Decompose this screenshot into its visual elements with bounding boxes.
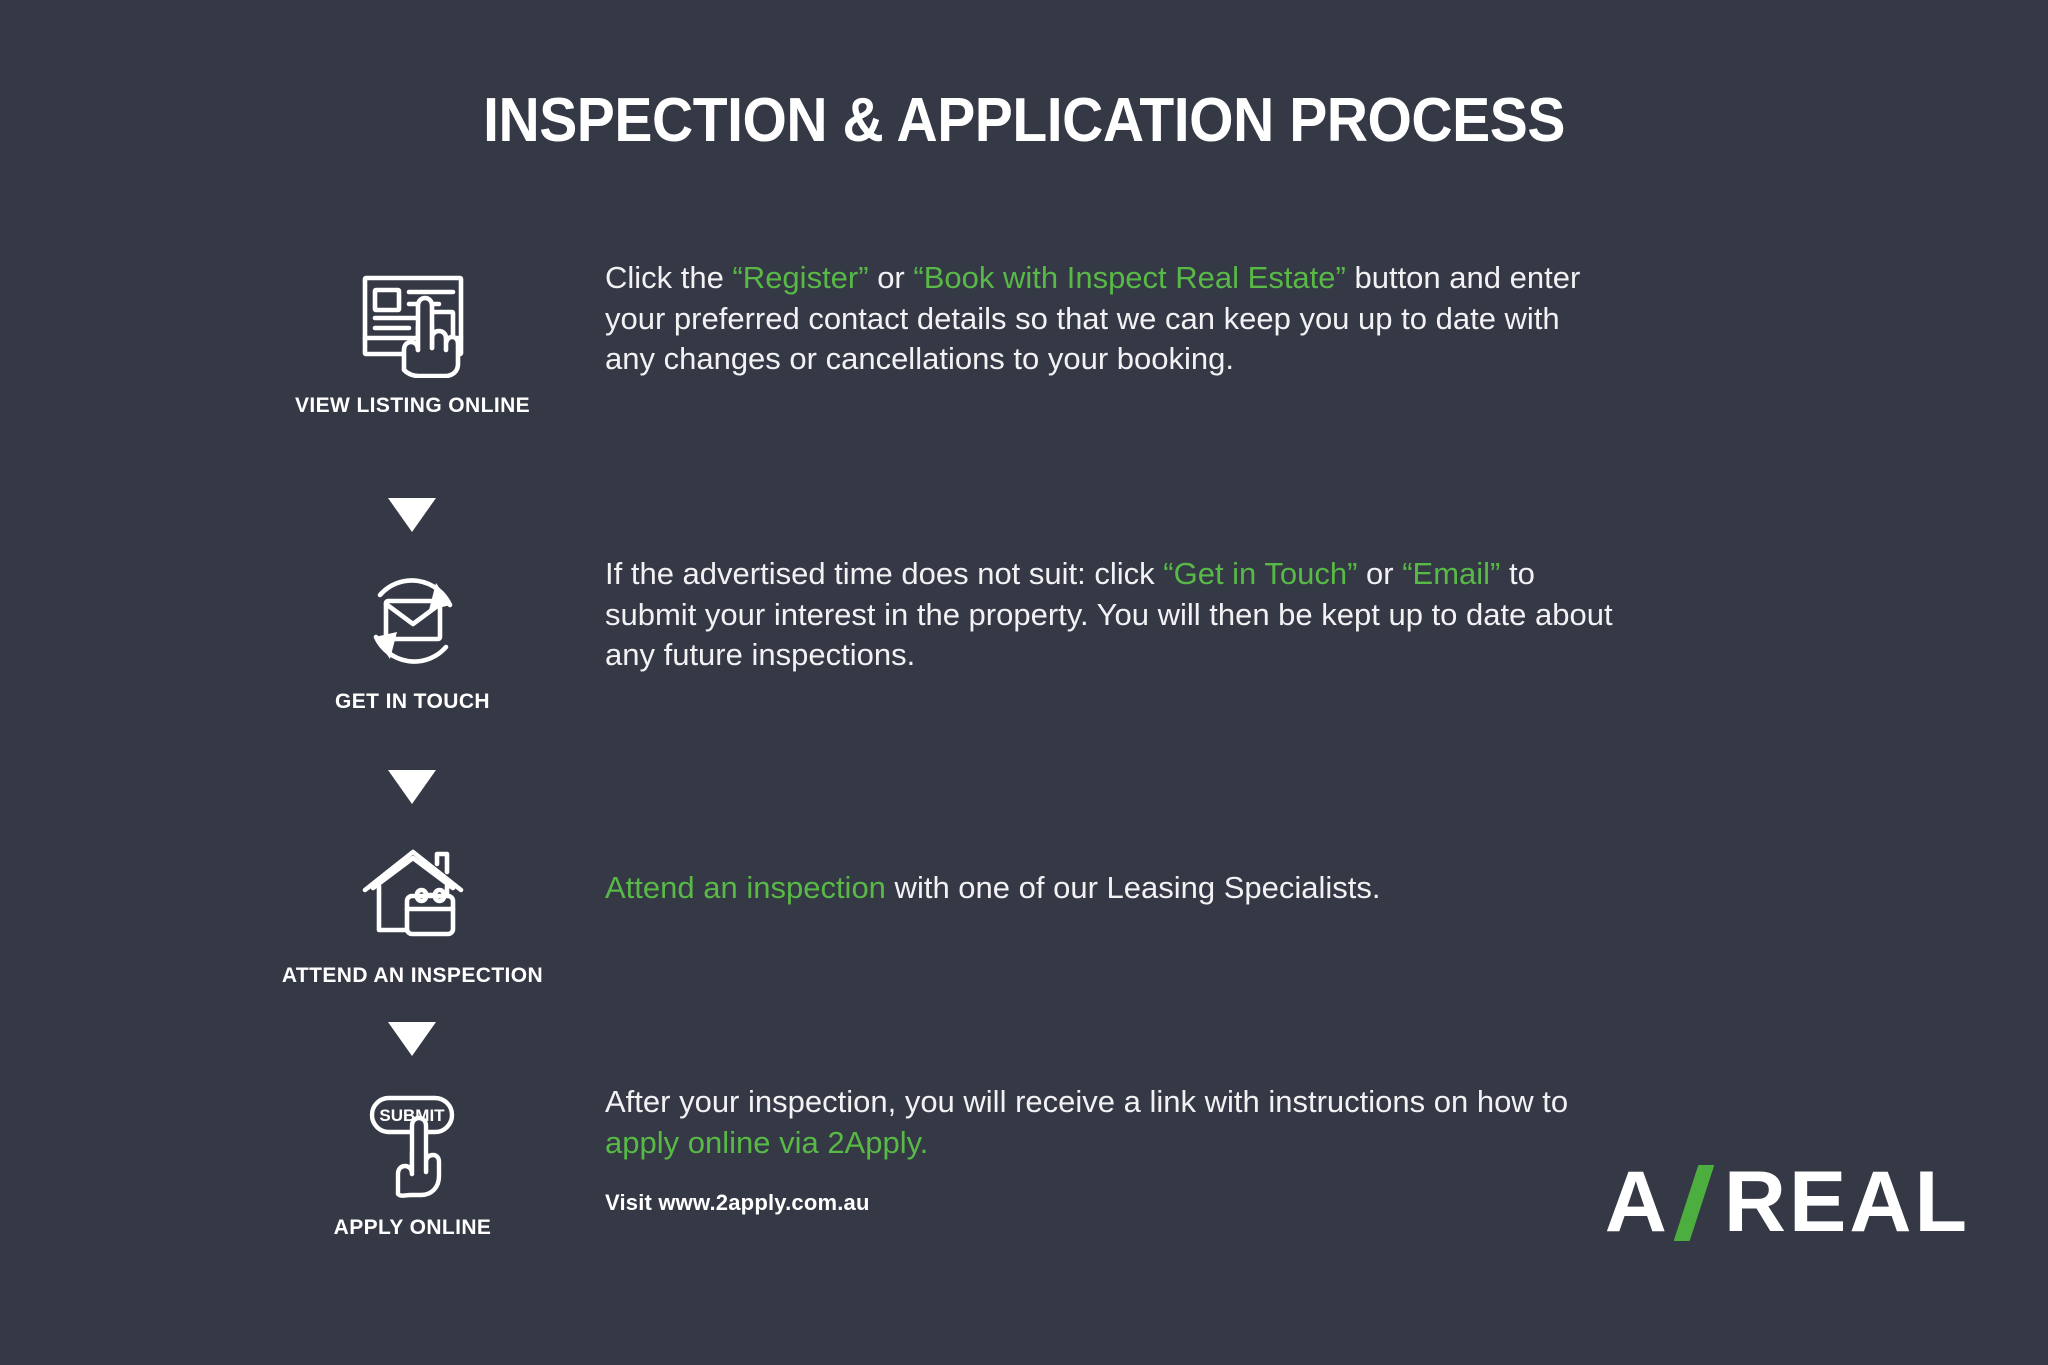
step-4-label: APPLY ONLINE — [250, 1216, 575, 1240]
step-1-part-2: “Register” — [732, 260, 868, 295]
step-2-part-3: or — [1357, 556, 1402, 591]
step-4-part-2: apply online via 2Apply. — [605, 1125, 928, 1160]
step-3-label: ATTEND AN INSPECTION — [250, 964, 575, 988]
step-2-label: GET IN TOUCH — [250, 690, 575, 714]
logo-areal: A REAL — [1605, 1159, 1970, 1245]
step-2-text: If the advertised time does not suit: cl… — [605, 554, 1615, 676]
process-flow: VIEW LISTING ONLINE Click the “Register”… — [0, 270, 2048, 1270]
step-4-part-1: After your inspection, you will receive … — [605, 1084, 1568, 1119]
logo-letter-a: A — [1605, 1159, 1670, 1245]
step-1-part-3: or — [869, 260, 914, 295]
logo-slash-icon — [1674, 1165, 1720, 1239]
step-3-part-2: with one of our Leasing Specialists. — [886, 870, 1381, 905]
step-1-part-1: Click the — [605, 260, 732, 295]
step-3-text: Attend an inspection with one of our Lea… — [605, 868, 1615, 909]
step-4-icon-column: SUBMIT APPLY ONLINE — [250, 1092, 575, 1240]
envelope-refresh-icon — [250, 566, 575, 676]
house-calendar-icon — [250, 840, 575, 950]
step-1-text: Click the “Register” or “Book with Inspe… — [605, 258, 1615, 380]
logo-word-real: REAL — [1724, 1159, 1970, 1245]
step-1-part-4: “Book with Inspect Real Estate” — [913, 260, 1345, 295]
step-3-icon-column: ATTEND AN INSPECTION — [250, 840, 575, 988]
listing-page-click-icon — [250, 270, 575, 380]
step-2-icon-column: GET IN TOUCH — [250, 566, 575, 714]
submit-button-click-icon: SUBMIT — [250, 1092, 575, 1202]
flow-arrow-1 — [388, 498, 436, 532]
step-3-part-1: Attend an inspection — [605, 870, 886, 905]
flow-arrow-3 — [388, 1022, 436, 1056]
flow-arrow-2 — [388, 770, 436, 804]
visit-url-note: Visit www.2apply.com.au — [605, 1190, 870, 1216]
step-1-label: VIEW LISTING ONLINE — [250, 394, 575, 418]
step-2-part-2: “Get in Touch” — [1163, 556, 1357, 591]
step-2-part-1: If the advertised time does not suit: cl… — [605, 556, 1163, 591]
step-1-icon-column: VIEW LISTING ONLINE — [250, 270, 575, 418]
page-title: INSPECTION & APPLICATION PROCESS — [82, 90, 1966, 152]
step-2-part-4: “Email” — [1402, 556, 1500, 591]
step-4-text: After your inspection, you will receive … — [605, 1082, 1615, 1163]
